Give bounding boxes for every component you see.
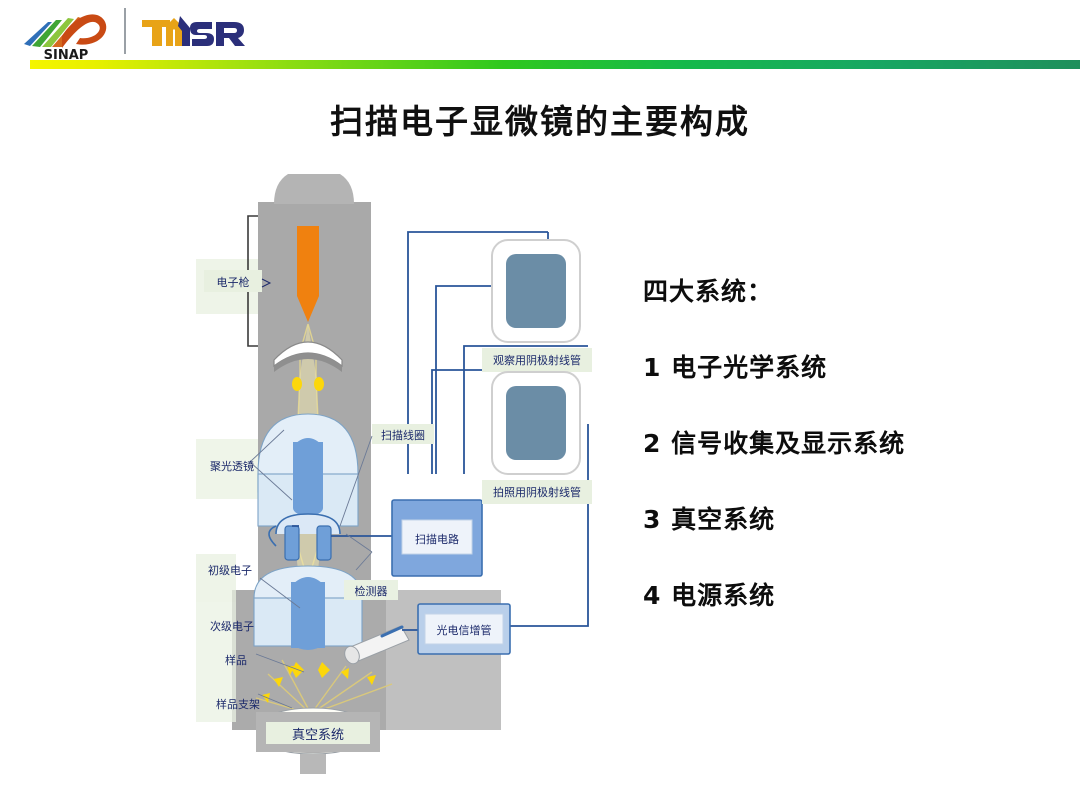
stage-pedestal bbox=[300, 754, 326, 774]
systems-list-item-3: 3 真空系统 bbox=[643, 500, 1043, 536]
secondary-electron-label: 次级电子 bbox=[210, 619, 254, 633]
tmsr-logo: TMSR bbox=[140, 12, 250, 54]
systems-list-item-2: 2 信号收集及显示系统 bbox=[643, 424, 1043, 460]
logo-divider bbox=[124, 8, 126, 54]
slide-root: SINAP TMSR 扫描电子显微镜的主要构成 bbox=[0, 0, 1080, 810]
sinap-logo-text: SINAP bbox=[44, 48, 89, 60]
crt-photo-label: 拍照用阴极射线管 bbox=[493, 485, 581, 499]
crt-photo: 拍照用阴极射线管 bbox=[482, 372, 592, 504]
photomultiplier-label: 光电信增管 bbox=[437, 623, 492, 637]
sem-diagram: 扫描电路 光电信增管 观察用阴极射线管 拍照用阴极射线管 bbox=[196, 174, 616, 774]
systems-list-heading: 四大系统： bbox=[643, 272, 1043, 308]
photomultiplier-box: 光电信增管 bbox=[418, 604, 510, 654]
scan-circuit-label: 扫描电路 bbox=[415, 532, 459, 546]
electron-gun-label: 电子枪 bbox=[217, 275, 250, 289]
slide-header: SINAP TMSR bbox=[0, 0, 1080, 72]
scan-coil-label: 扫描线圈 bbox=[381, 428, 425, 442]
systems-list-item-1: 1 电子光学系统 bbox=[643, 348, 1043, 384]
condenser-lens-label: 聚光透镜 bbox=[210, 459, 254, 473]
systems-list: 四大系统： 1 电子光学系统 2 信号收集及显示系统 3 真空系统 4 电源系统 bbox=[643, 272, 1043, 612]
sample-holder-label: 样品支架 bbox=[216, 697, 260, 711]
header-accent-bar bbox=[30, 60, 1080, 69]
detector-label: 检测器 bbox=[355, 584, 388, 598]
sample-label: 样品 bbox=[225, 653, 247, 667]
page-title: 扫描电子显微镜的主要构成 bbox=[0, 95, 1080, 143]
condenser-lens bbox=[258, 414, 358, 526]
objective-lens bbox=[254, 566, 362, 650]
primary-electron-label: 初级电子 bbox=[208, 563, 252, 577]
systems-list-item-4: 4 电源系统 bbox=[643, 576, 1043, 612]
crt-observe-label: 观察用阴极射线管 bbox=[493, 353, 581, 367]
sinap-logo: SINAP bbox=[18, 8, 114, 60]
crt-observe: 观察用阴极射线管 bbox=[482, 240, 592, 372]
vacuum-system-label: 真空系统 bbox=[266, 722, 370, 744]
scan-circuit-box: 扫描电路 bbox=[392, 500, 482, 576]
